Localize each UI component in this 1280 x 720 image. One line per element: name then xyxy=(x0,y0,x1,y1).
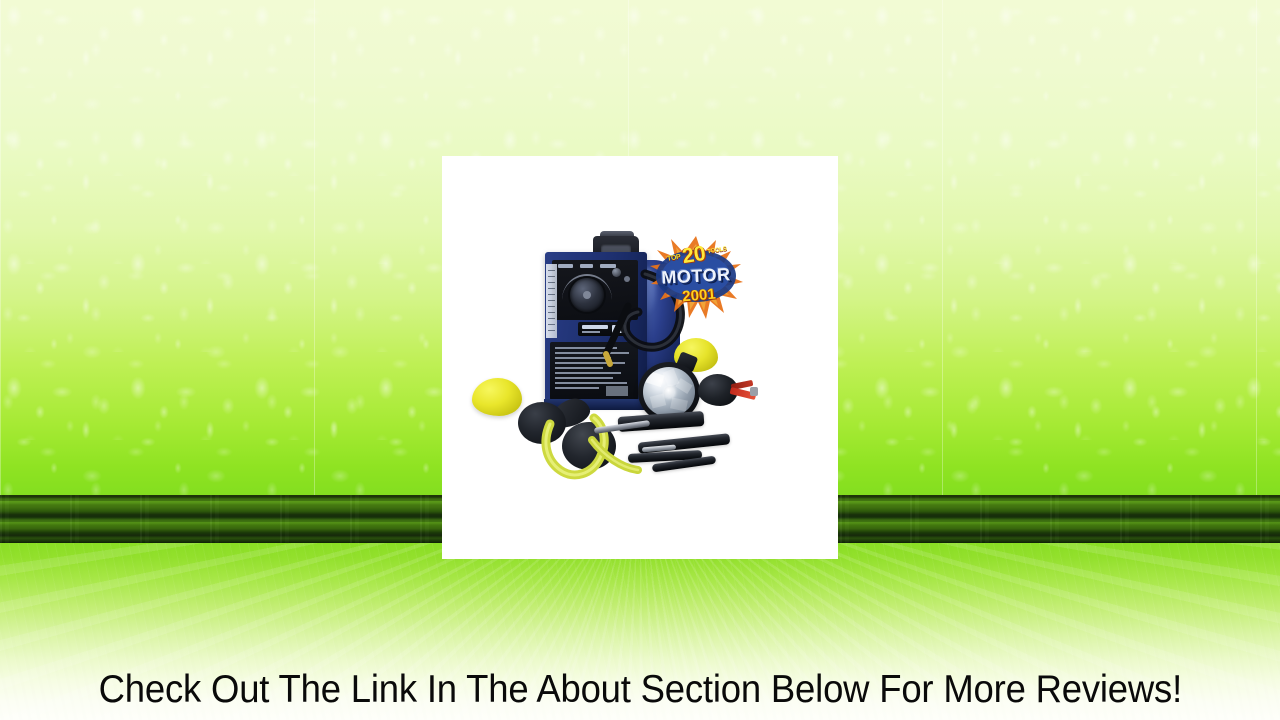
caption-text: Check Out The Link In The About Section … xyxy=(98,670,1181,709)
compressor-warning-label xyxy=(550,342,638,400)
award-tools-label: TOOLS xyxy=(707,246,727,255)
clamp-metal-tip xyxy=(750,387,758,396)
spotlight-lens xyxy=(643,367,695,417)
slide-stage: TOP 20 TOOLS MOTOR 2001 xyxy=(0,0,1280,720)
compressor-side-spec-sticker xyxy=(546,264,557,338)
caption-bar: Check Out The Link In The About Section … xyxy=(0,662,1280,716)
compressor-switch-knob xyxy=(612,268,621,277)
battery-clamps xyxy=(698,370,758,418)
compressor-panel-legend xyxy=(558,262,634,270)
award-number: 20 xyxy=(681,242,707,266)
panel-legend-mark-3 xyxy=(600,264,616,268)
product-photo: TOP 20 TOOLS MOTOR 2001 xyxy=(442,156,838,559)
award-top-label: TOP xyxy=(667,253,681,262)
compressor-brand-plate xyxy=(578,322,630,336)
panel-legend-mark-2 xyxy=(580,264,593,268)
compressor-indicator-led xyxy=(624,276,630,282)
nozzle-tube-1 xyxy=(618,411,705,432)
award-badge: TOP 20 TOOLS MOTOR 2001 xyxy=(648,236,744,320)
product-image-card: TOP 20 TOOLS MOTOR 2001 xyxy=(442,156,838,559)
panel-legend-mark-1 xyxy=(558,264,573,268)
award-year: 2001 xyxy=(682,285,717,305)
pressure-gauge xyxy=(570,278,604,312)
spotlight-bulb xyxy=(664,386,675,398)
yellow-foam-pad-left xyxy=(472,378,522,416)
black-buffing-pad-1 xyxy=(518,402,566,444)
